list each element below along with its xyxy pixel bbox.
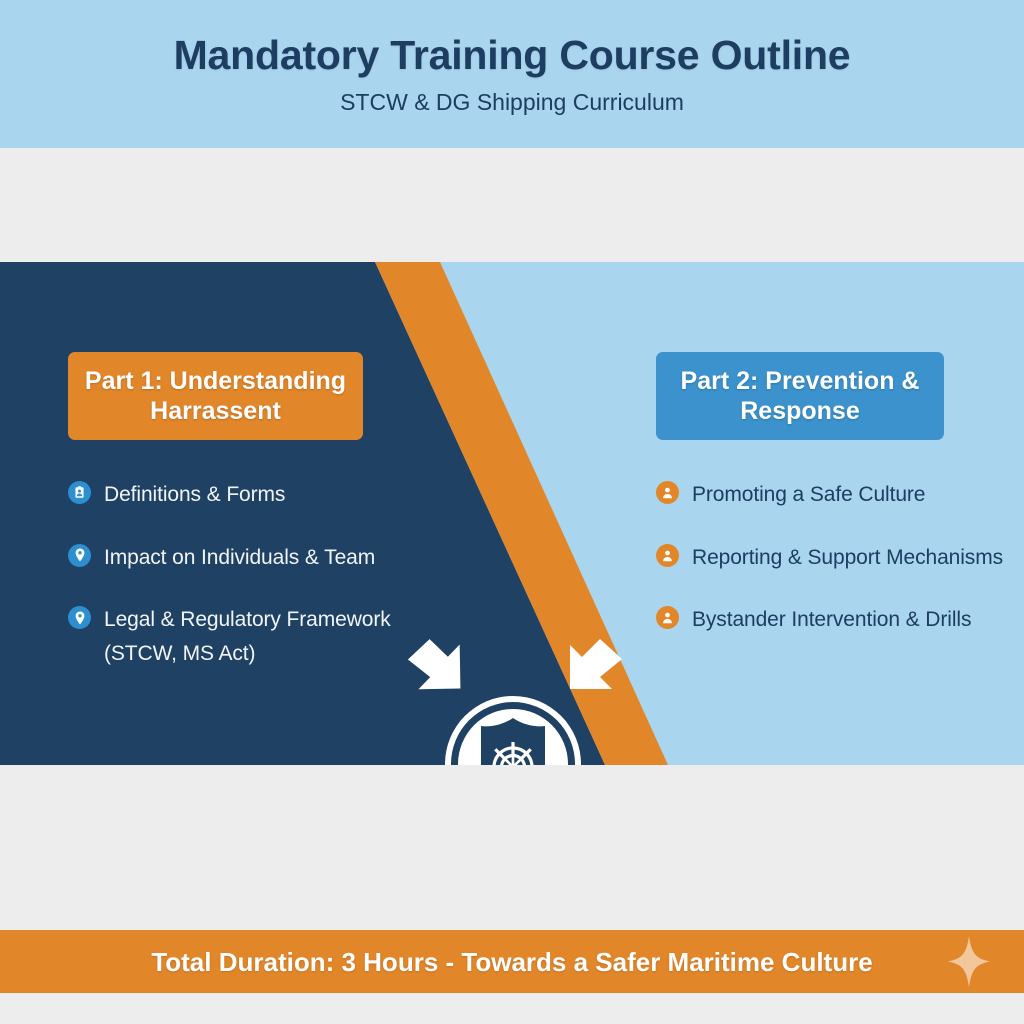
shield-with-ships-wheel-emblem (443, 694, 583, 765)
header-banner: Mandatory Training Course Outline STCW &… (0, 0, 1024, 148)
part-2-bullet-list: Promoting a Safe Culture Reporting & Sup… (656, 478, 1006, 637)
footer-bar: Total Duration: 3 Hours - Towards a Safe… (0, 930, 1024, 993)
list-item-label: Legal & Regulatory Framework (STCW, MS A… (104, 603, 398, 670)
person-icon (656, 606, 679, 629)
list-item[interactable]: Legal & Regulatory Framework (STCW, MS A… (68, 603, 398, 670)
list-item-label: Definitions & Forms (104, 478, 285, 512)
footer-text: Total Duration: 3 Hours - Towards a Safe… (151, 949, 872, 975)
list-item[interactable]: Bystander Intervention & Drills (656, 603, 1006, 637)
id-badge-icon (68, 481, 91, 504)
list-item-label: Bystander Intervention & Drills (692, 603, 971, 637)
main-content-panel: Part 1: Understanding Harrassent Definit… (0, 262, 1024, 765)
list-item-label: Impact on Individuals & Team (104, 541, 375, 575)
list-item[interactable]: Impact on Individuals & Team (68, 541, 398, 575)
list-item-label: Promoting a Safe Culture (692, 478, 925, 512)
location-pin-icon (68, 544, 91, 567)
list-item[interactable]: Reporting & Support Mechanisms (656, 541, 1006, 575)
part-1-column: Part 1: Understanding Harrassent Definit… (68, 352, 398, 699)
page-subtitle: STCW & DG Shipping Curriculum (340, 91, 684, 114)
list-item-label: Reporting & Support Mechanisms (692, 541, 1003, 575)
list-item[interactable]: Definitions & Forms (68, 478, 398, 512)
list-item[interactable]: Promoting a Safe Culture (656, 478, 1006, 512)
part-1-badge[interactable]: Part 1: Understanding Harrassent (68, 352, 363, 440)
person-icon (656, 544, 679, 567)
page-title: Mandatory Training Course Outline (174, 34, 851, 77)
location-pin-icon (68, 606, 91, 629)
part-2-column: Part 2: Prevention & Response Promoting … (656, 352, 1006, 666)
part-1-bullet-list: Definitions & Forms Impact on Individual… (68, 478, 398, 670)
four-point-sparkle-icon (944, 930, 994, 993)
part-2-badge[interactable]: Part 2: Prevention & Response (656, 352, 944, 440)
person-icon (656, 481, 679, 504)
